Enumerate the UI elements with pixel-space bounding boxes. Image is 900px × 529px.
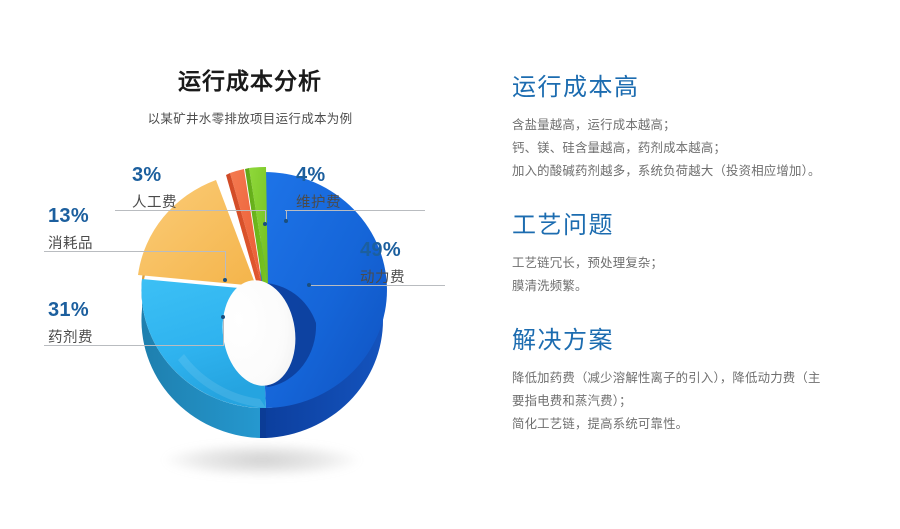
callout-consumable-name: 消耗品 [48,237,168,252]
callout-maintain[interactable]: 4% 维护费 [296,165,416,211]
callout-power[interactable]: 49% 动力费 [360,240,480,286]
leader-dot-labor [263,222,267,226]
leader-dot-power [307,283,311,287]
page-title: 运行成本分析 [0,62,500,96]
section-cost-line-2: 钙、镁、硅含量越高，药剂成本越高； [512,137,900,160]
section-cost-heading: 运行成本高 [512,75,900,101]
section-process-line-1: 工艺链冗长，预处理复杂； [512,252,900,275]
callout-consumable-pct: 13% [48,206,168,226]
info-panel: 运行成本高 含盐量越高，运行成本越高； 钙、镁、硅含量越高，药剂成本越高； 加入… [512,0,900,529]
callout-maintain-name: 维护费 [296,196,416,211]
leader-dot-consumable [223,278,227,282]
section-solution-line-2: 要指电费和蒸汽费）； [512,390,900,413]
callout-chemical[interactable]: 31% 药剂费 [48,300,168,346]
callout-power-name: 动力费 [360,271,480,286]
section-cost-body: 含盐量越高，运行成本越高； 钙、镁、硅含量越高，药剂成本越高； 加入的酸碱药剂越… [512,114,900,183]
slide-root: 运行成本分析 以某矿井水零排放项目运行成本为例 [0,0,900,529]
callout-maintain-pct: 4% [296,165,416,185]
section-cost-line-3: 加入的酸碱药剂越多，系统负荷越大（投资相应增加）。 [512,160,900,183]
wall-power-edge [260,408,266,438]
callout-consumable[interactable]: 13% 消耗品 [48,206,168,252]
section-solution-line-3: 简化工艺链，提高系统可靠性。 [512,413,900,436]
page-subtitle: 以某矿井水零排放项目运行成本为例 [0,108,500,127]
section-solution-heading: 解决方案 [512,328,900,354]
section-cost: 运行成本高 含盐量越高，运行成本越高； 钙、镁、硅含量越高，药剂成本越高； 加入… [512,75,900,183]
section-process-line-2: 膜清洗频繁。 [512,275,900,298]
leader-line-consumable-v [225,251,226,280]
section-cost-line-1: 含盐量越高，运行成本越高； [512,114,900,137]
section-process-heading: 工艺问题 [512,213,900,239]
leader-dot-chemical [221,315,225,319]
callout-power-pct: 49% [360,240,480,260]
leader-line-chemical-v [223,318,224,345]
section-solution: 解决方案 降低加药费（减少溶解性离子的引入），降低动力费（主 要指电费和蒸汽费）… [512,328,900,436]
section-process: 工艺问题 工艺链冗长，预处理复杂； 膜清洗频繁。 [512,213,900,298]
callout-labor-pct: 3% [132,165,258,185]
leader-dot-maintain [284,219,288,223]
callout-chemical-pct: 31% [48,300,168,320]
section-process-body: 工艺链冗长，预处理复杂； 膜清洗频繁。 [512,252,900,298]
pie-chart: 3% 人工费 4% 维护费 13% 消耗品 31% 药剂费 49% 动力费 [120,155,400,455]
callout-chemical-name: 药剂费 [48,331,168,346]
callout-labor[interactable]: 3% 人工费 [132,165,258,211]
section-solution-body: 降低加药费（减少溶解性离子的引入），降低动力费（主 要指电费和蒸汽费）； 简化工… [512,367,900,436]
chart-panel: 运行成本分析 以某矿井水零排放项目运行成本为例 [0,0,500,529]
section-solution-line-1: 降低加药费（减少溶解性离子的引入），降低动力费（主 [512,367,900,390]
